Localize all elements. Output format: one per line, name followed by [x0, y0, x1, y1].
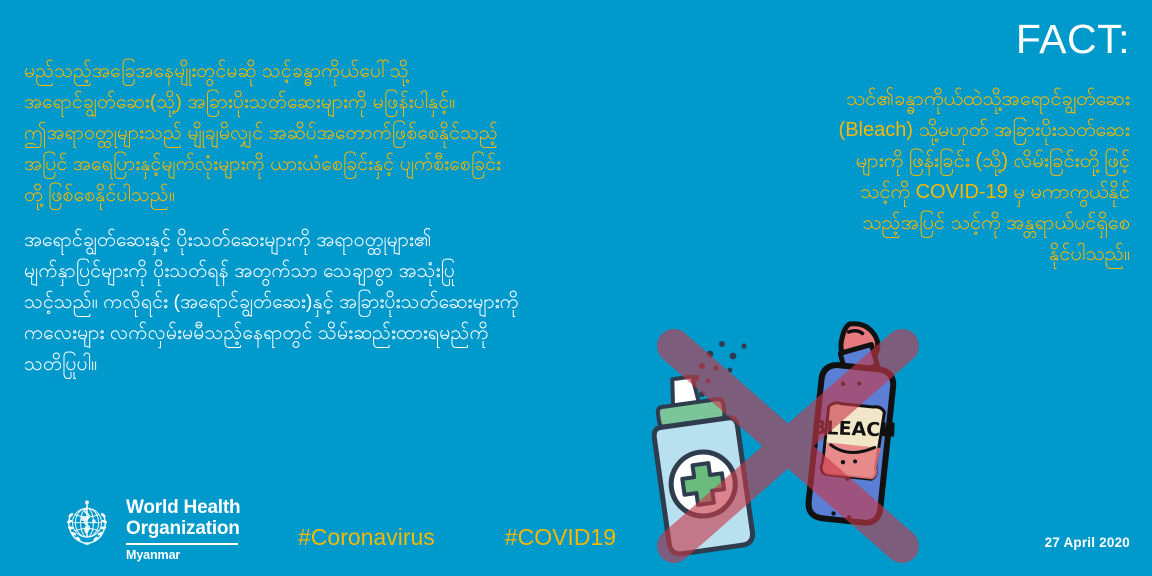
who-country-label: Myanmar	[126, 548, 240, 562]
hashtag-row: #Coronavirus #COVID19	[298, 524, 616, 550]
hashtag-covid19[interactable]: #COVID19	[505, 524, 616, 550]
who-emblem-icon	[58, 496, 116, 554]
hashtag-coronavirus[interactable]: #Coronavirus	[298, 524, 435, 550]
advice-paragraph: အရောင်ချွတ်ဆေးနှင့် ပိုးသတ်ဆေးများကို အရ…	[24, 225, 684, 380]
right-text-column: သင်၏ခန္ဓာကိုယ်ထဲသို့အရောင်ချွတ်ဆေး (Blea…	[660, 84, 1130, 270]
fact-body-paragraph: သင်၏ခန္ဓာကိုယ်ထဲသို့အရောင်ချွတ်ဆေး (Blea…	[660, 84, 1130, 270]
who-line-2: Organization	[126, 518, 240, 539]
who-fact-poster: မည်သည့်အခြေအနေမျိုးတွင်မဆို သင့်ခန္ဓာကို…	[0, 0, 1152, 576]
who-logo: World Health Organization Myanmar	[58, 496, 240, 562]
no-spraying-disinfectant-illustration: BLEACH	[650, 318, 940, 568]
who-line-1: World Health	[126, 497, 240, 518]
date-stamp: 27 April 2020	[1045, 535, 1130, 550]
left-text-column: မည်သည့်အခြေအနေမျိုးတွင်မဆို သင့်ခန္ဓာကို…	[24, 56, 684, 394]
who-divider	[126, 543, 238, 545]
warning-paragraph: မည်သည့်အခြေအနေမျိုးတွင်မဆို သင့်ခန္ဓာကို…	[24, 56, 684, 211]
fact-label: FACT:	[1016, 16, 1130, 62]
who-wordmark: World Health Organization Myanmar	[126, 496, 240, 562]
